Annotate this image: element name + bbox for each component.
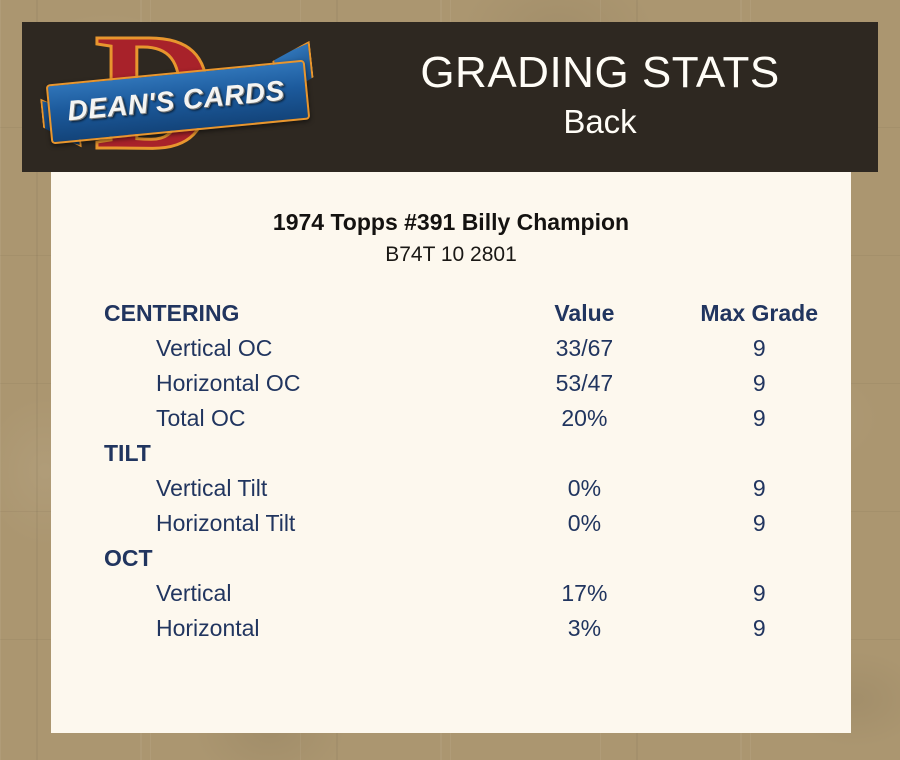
stat-value: 53/47 — [501, 366, 667, 401]
stat-max-grade: 9 — [667, 506, 851, 541]
card-title: 1974 Topps #391 Billy Champion — [51, 209, 851, 236]
stat-value: 0% — [501, 506, 667, 541]
section-spacer-grade — [667, 436, 851, 471]
page-title: GRADING STATS — [420, 50, 779, 96]
section-spacer-value — [501, 436, 667, 471]
stat-label: Vertical — [51, 576, 501, 611]
stat-max-grade: 9 — [667, 576, 851, 611]
stat-label: Horizontal OC — [51, 366, 501, 401]
stat-label: Vertical OC — [51, 331, 501, 366]
stat-max-grade: 9 — [667, 471, 851, 506]
table-row: Vertical17%9 — [51, 576, 851, 611]
stat-label: Horizontal — [51, 611, 501, 646]
stat-max-grade: 9 — [667, 611, 851, 646]
table-row: Vertical Tilt0%9 — [51, 471, 851, 506]
table-row: Horizontal Tilt0%9 — [51, 506, 851, 541]
stat-label: Total OC — [51, 401, 501, 436]
stat-label: Horizontal Tilt — [51, 506, 501, 541]
stat-value: 33/67 — [501, 331, 667, 366]
stat-value: 3% — [501, 611, 667, 646]
deans-cards-logo[interactable]: D DEAN'S CARDS — [46, 26, 306, 168]
table-row: Vertical OC33/679 — [51, 331, 851, 366]
stat-max-grade: 9 — [667, 366, 851, 401]
content-panel: 1974 Topps #391 Billy Champion B74T 10 2… — [51, 172, 851, 733]
column-header-section: CENTERING — [51, 296, 501, 331]
table-header-row: CENTERINGValueMax Grade — [51, 296, 851, 331]
section-title: TILT — [51, 436, 501, 471]
table-row: Horizontal3%9 — [51, 611, 851, 646]
grading-stats-table: CENTERINGValueMax GradeVertical OC33/679… — [51, 296, 851, 646]
stat-value: 0% — [501, 471, 667, 506]
column-header-max-grade: Max Grade — [667, 296, 851, 331]
section-header-row: TILT — [51, 436, 851, 471]
page-subtitle: Back — [563, 100, 636, 145]
header-title-group: GRADING STATS Back — [322, 22, 878, 172]
column-header-value: Value — [501, 296, 667, 331]
stat-value: 20% — [501, 401, 667, 436]
section-title: OCT — [51, 541, 501, 576]
section-spacer-grade — [667, 541, 851, 576]
section-header-row: OCT — [51, 541, 851, 576]
stat-label: Vertical Tilt — [51, 471, 501, 506]
stat-max-grade: 9 — [667, 331, 851, 366]
stat-value: 17% — [501, 576, 667, 611]
stat-max-grade: 9 — [667, 401, 851, 436]
card-identifier: B74T 10 2801 — [51, 243, 851, 267]
section-spacer-value — [501, 541, 667, 576]
table-row: Total OC20%9 — [51, 401, 851, 436]
table-row: Horizontal OC53/479 — [51, 366, 851, 401]
page-header: D DEAN'S CARDS GRADING STATS Back — [22, 22, 878, 172]
